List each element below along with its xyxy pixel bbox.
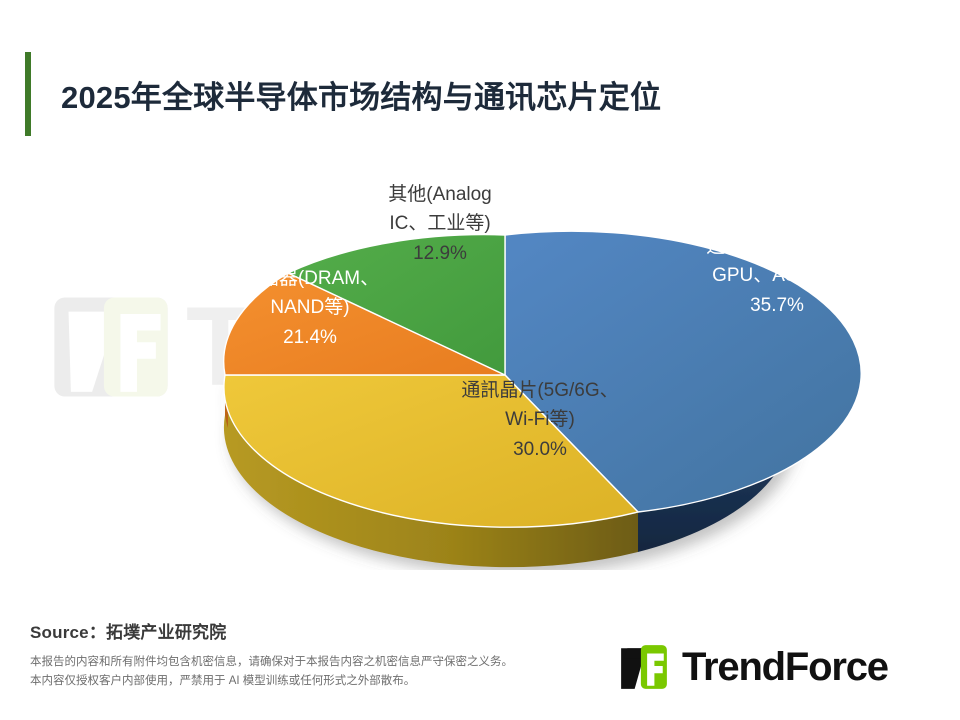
page-title: 2025年全球半导体市场结构与通讯芯片定位 [61,72,661,117]
brand-logo: TrendForce [618,641,888,693]
title-accent-bar [25,52,31,136]
disclaimer-line-2: 本内容仅授权客户内部使用，严禁用于 AI 模型训练或任何形式之外部散布。 [30,672,513,691]
disclaimer-text: 本报告的内容和所有附件均包含机密信息，请确保对于本报告内容之机密信息严守保密之义… [30,653,513,691]
slide-footer: Source：拓墣产业研究院 本报告的内容和所有附件均包含机密信息，请确保对于本… [30,618,513,691]
source-label: Source：拓墣产业研究院 [30,618,513,643]
slide-header: 2025年全球半导体市场结构与通讯芯片定位 [25,52,661,136]
brand-logo-text: TrendForce [682,647,888,687]
trendforce-logo-mark-icon [618,641,670,693]
disclaimer-line-1: 本报告的内容和所有附件均包含机密信息，请确保对于本报告内容之机密信息严守保密之义… [30,653,513,672]
slide-canvas: 2025年全球半导体市场结构与通讯芯片定位 TrendForce [0,0,960,720]
pie-chart[interactable]: 运算芯片(CPU、 GPU、ASIC等) 35.7% 通訊晶片(5G/6G、 W… [150,160,870,570]
